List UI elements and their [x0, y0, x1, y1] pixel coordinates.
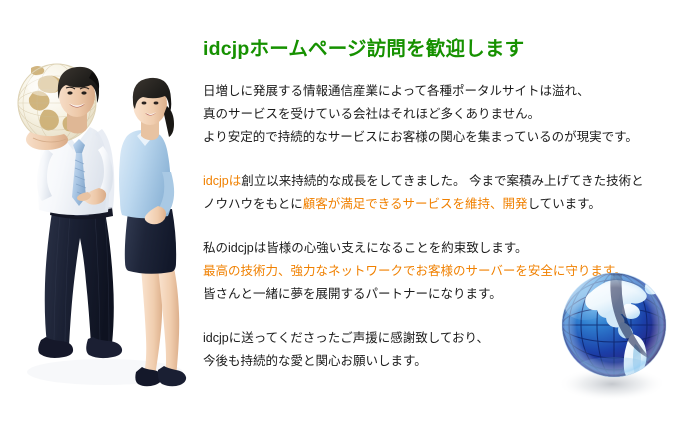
business-couple-photo — [0, 0, 200, 431]
body-text: しています。 — [528, 197, 601, 211]
text-line: idcjpは創立以来持続的な成長をしてきました。 今まで案積み上げてきた技術と — [203, 170, 673, 193]
text-line: より安定的で持続的なサービスにお客様の関心を集まっているのが現実です。 — [203, 126, 673, 149]
body-text: 創立以来持続的な成長をしてきました。 今まで案積み上げてきた技術と — [241, 174, 643, 188]
highlight-text: idcjpは — [203, 174, 241, 188]
blue-glossy-globe — [556, 264, 676, 409]
text-line: 真のサービスを受けている会社はそれほど多くありません。 — [203, 103, 673, 126]
highlight-text: 顧客が満足できるサービスを維持、開発 — [303, 197, 528, 211]
page-root: idcjpホームページ訪問を歓迎します 日増しに発展する情報通信産業によって各種… — [0, 0, 680, 431]
text-line: 日増しに発展する情報通信産業によって各種ポータルサイトは溢れ、 — [203, 80, 673, 103]
text-line: 私のidcjpは皆様の心強い支えになることを約束致します。 — [203, 237, 673, 260]
paragraph-growth: idcjpは創立以来持続的な成長をしてきました。 今まで案積み上げてきた技術と … — [203, 170, 673, 216]
paragraph-intro: 日増しに発展する情報通信産業によって各種ポータルサイトは溢れ、 真のサービスを受… — [203, 80, 673, 149]
body-text: ノウハウをもとに — [203, 197, 303, 211]
page-title: idcjpホームページ訪問を歓迎します — [203, 36, 673, 62]
text-line: ノウハウをもとに顧客が満足できるサービスを維持、開発しています。 — [203, 193, 673, 216]
